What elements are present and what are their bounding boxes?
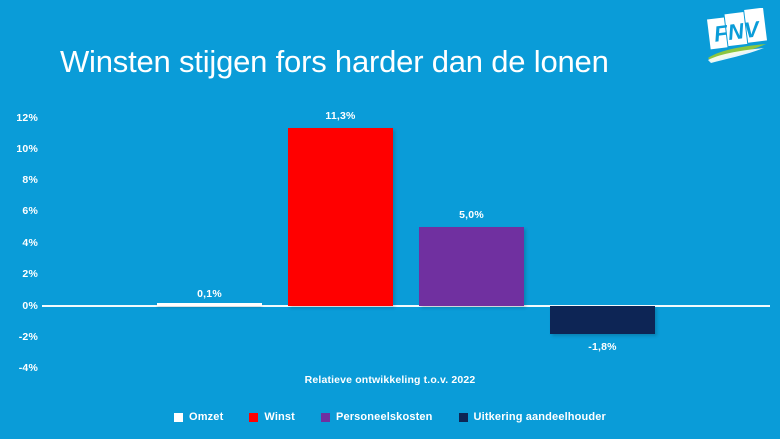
chart-screenshot: FNV Winsten stijgen fors harder dan de l…: [0, 0, 780, 439]
y-axis-tick-label: -4%: [0, 362, 38, 374]
chart-legend: Omzet Winst Personeelskosten Uitkering a…: [0, 411, 780, 423]
bar-uitkering-aandeelhouder[interactable]: [550, 306, 655, 334]
y-axis-tick-label: 4%: [0, 237, 38, 249]
legend-swatch-icon: [174, 413, 183, 422]
axis-caption: Relatieve ontwikkeling t.o.v. 2022: [0, 374, 780, 386]
y-axis-tick-label: 12%: [0, 112, 38, 124]
legend-item-label: Personeelskosten: [336, 411, 433, 423]
bar-value-label-omzet: 0,1%: [197, 288, 222, 300]
bar-personeelskosten[interactable]: [419, 227, 524, 306]
bar-value-label-personeelskosten: 5,0%: [459, 209, 484, 221]
legend-swatch-icon: [321, 413, 330, 422]
legend-item-omzet[interactable]: Omzet: [174, 411, 223, 423]
y-axis-tick-label: 6%: [0, 205, 38, 217]
bar-value-label-winst: 11,3%: [325, 110, 355, 122]
y-axis-tick-label: 0%: [0, 300, 38, 312]
legend-item-label: Uitkering aandeelhouder: [474, 411, 606, 423]
legend-item-personeelskosten[interactable]: Personeelskosten: [321, 411, 433, 423]
bar-winst[interactable]: [288, 128, 393, 306]
y-axis-tick-label: 2%: [0, 268, 38, 280]
zero-baseline: [42, 305, 770, 307]
legend-swatch-icon: [459, 413, 468, 422]
y-axis-tick-label: 8%: [0, 174, 38, 186]
bar-omzet[interactable]: [157, 303, 262, 306]
legend-item-label: Winst: [264, 411, 295, 423]
legend-item-uitkering-aandeelhouder[interactable]: Uitkering aandeelhouder: [459, 411, 606, 423]
y-axis-tick-label: 10%: [0, 143, 38, 155]
bar-value-label-uitkering-aandeelhouder: -1,8%: [588, 341, 616, 353]
legend-swatch-icon: [249, 413, 258, 422]
legend-item-winst[interactable]: Winst: [249, 411, 295, 423]
legend-item-label: Omzet: [189, 411, 223, 423]
y-axis-tick-label: -2%: [0, 331, 38, 343]
